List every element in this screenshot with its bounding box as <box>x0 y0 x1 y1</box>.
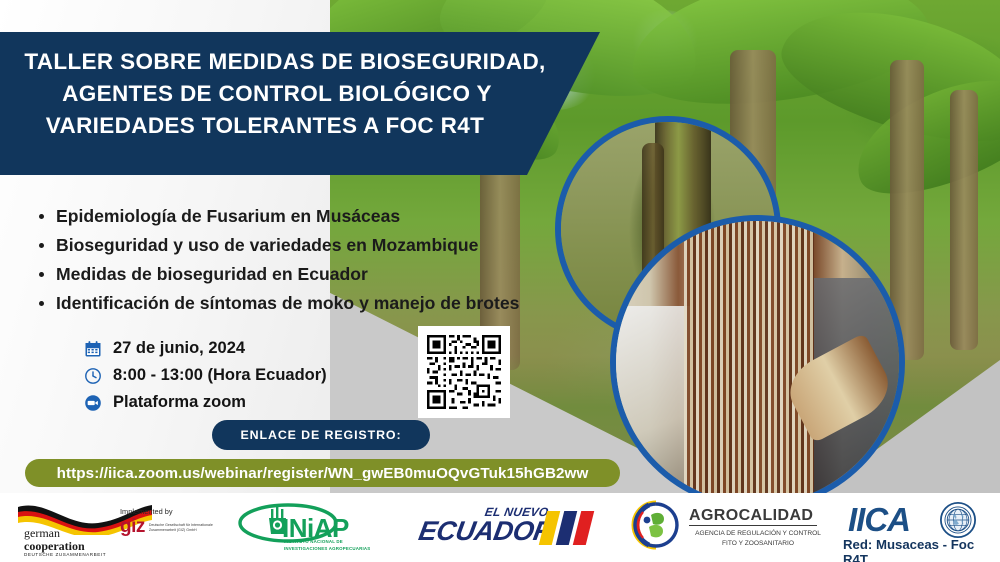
clock-icon <box>82 365 104 387</box>
agrocalidad-rule <box>689 525 817 526</box>
flag-stripe-red-icon <box>573 511 594 545</box>
title-line-1: TALLER SOBRE MEDIDAS DE BIOSEGURIDAD, <box>14 46 556 78</box>
german-cooperation-line3: DEUTSCHE ZUSAMMENARBEIT <box>24 553 106 558</box>
title-line-3: VARIEDADES TOLERANTES A FOC R4T <box>14 110 556 142</box>
zoom-camera-icon <box>82 392 104 414</box>
photo-circle-pseudostem-cross-section <box>610 215 905 510</box>
logo-agrocalidad: AGROCALIDAD AGENCIA DE REGULACIÓN Y CONT… <box>627 499 827 555</box>
list-item: Medidas de bioseguridad en Ecuador <box>56 261 610 287</box>
page-title: TALLER SOBRE MEDIDAS DE BIOSEGURIDAD, AG… <box>0 32 600 142</box>
registration-link-text: https://iica.zoom.us/webinar/register/WN… <box>57 465 589 482</box>
detail-date-text: 27 de junio, 2024 <box>113 339 245 358</box>
registration-link[interactable]: https://iica.zoom.us/webinar/register/WN… <box>25 459 620 487</box>
footer-logo-bar: german cooperation DEUTSCHE ZUSAMMENARBE… <box>0 493 1000 562</box>
logo-iniap: INiAP INSTITUTO NACIONAL DE INVESTIGACIO… <box>236 501 386 553</box>
iniap-subtitle: INSTITUTO NACIONAL DE INVESTIGACIONES AG… <box>284 539 386 552</box>
giz-subtitle: Deutsche Gesellschaft für Internationale… <box>149 523 216 533</box>
iica-wordmark: IICA <box>848 501 910 539</box>
qr-code-icon <box>424 332 504 412</box>
giz-implemented-by: Implemented by <box>120 507 216 516</box>
logo-iica: IICA Red: Musaceas - Foc R4T <box>848 499 998 557</box>
logo-giz: Implemented by giz Deutsche Gesellschaft… <box>120 507 216 549</box>
detail-row-time: 8:00 - 13:00 (Hora Ecuador) <box>82 363 327 388</box>
banana-trunk-icon <box>950 90 978 350</box>
iica-globe-seal-icon <box>940 502 976 538</box>
german-cooperation-line2: cooperation <box>24 540 106 553</box>
ecuador-wordmark: ECUADOR <box>416 516 555 547</box>
iica-network-label: Red: Musaceas - Foc R4T <box>843 537 998 562</box>
agrocalidad-subtitle: AGENCIA DE REGULACIÓN Y CONTROL FITO Y Z… <box>689 529 827 548</box>
logo-el-nuevo-ecuador: EL NUEVO ECUADOR <box>415 503 595 553</box>
detail-platform-text: Plataforma zoom <box>113 393 246 412</box>
detail-time-text: 8:00 - 13:00 (Hora Ecuador) <box>113 366 327 385</box>
list-item: Epidemiología de Fusarium en Musáceas <box>56 203 610 229</box>
detail-row-platform: Plataforma zoom <box>82 390 327 415</box>
agrocalidad-wordmark: AGROCALIDAD <box>689 507 813 525</box>
list-item: Identificación de síntomas de moko y man… <box>56 290 610 316</box>
german-cooperation-line1: german <box>24 527 106 540</box>
detail-row-date: 27 de junio, 2024 <box>82 336 327 361</box>
topics-list: Epidemiología de Fusarium en Musáceas Bi… <box>30 203 610 319</box>
list-item: Bioseguridad y uso de variedades en Moza… <box>56 232 610 258</box>
register-button-label: ENLACE DE REGISTRO: <box>241 428 402 442</box>
giz-wordmark: giz <box>120 518 145 535</box>
register-button[interactable]: ENLACE DE REGISTRO: <box>212 420 430 450</box>
title-panel: TALLER SOBRE MEDIDAS DE BIOSEGURIDAD, AG… <box>0 32 600 175</box>
qr-code[interactable] <box>418 326 510 418</box>
calendar-icon <box>82 338 104 360</box>
agrocalidad-emblem-icon <box>627 499 685 551</box>
event-details: 27 de junio, 2024 8:00 - 13:00 (Hora Ecu… <box>82 336 327 417</box>
poster-canvas: TALLER SOBRE MEDIDAS DE BIOSEGURIDAD, AG… <box>0 0 1000 562</box>
title-line-2: AGENTES DE CONTROL BIOLÓGICO Y <box>14 78 556 110</box>
